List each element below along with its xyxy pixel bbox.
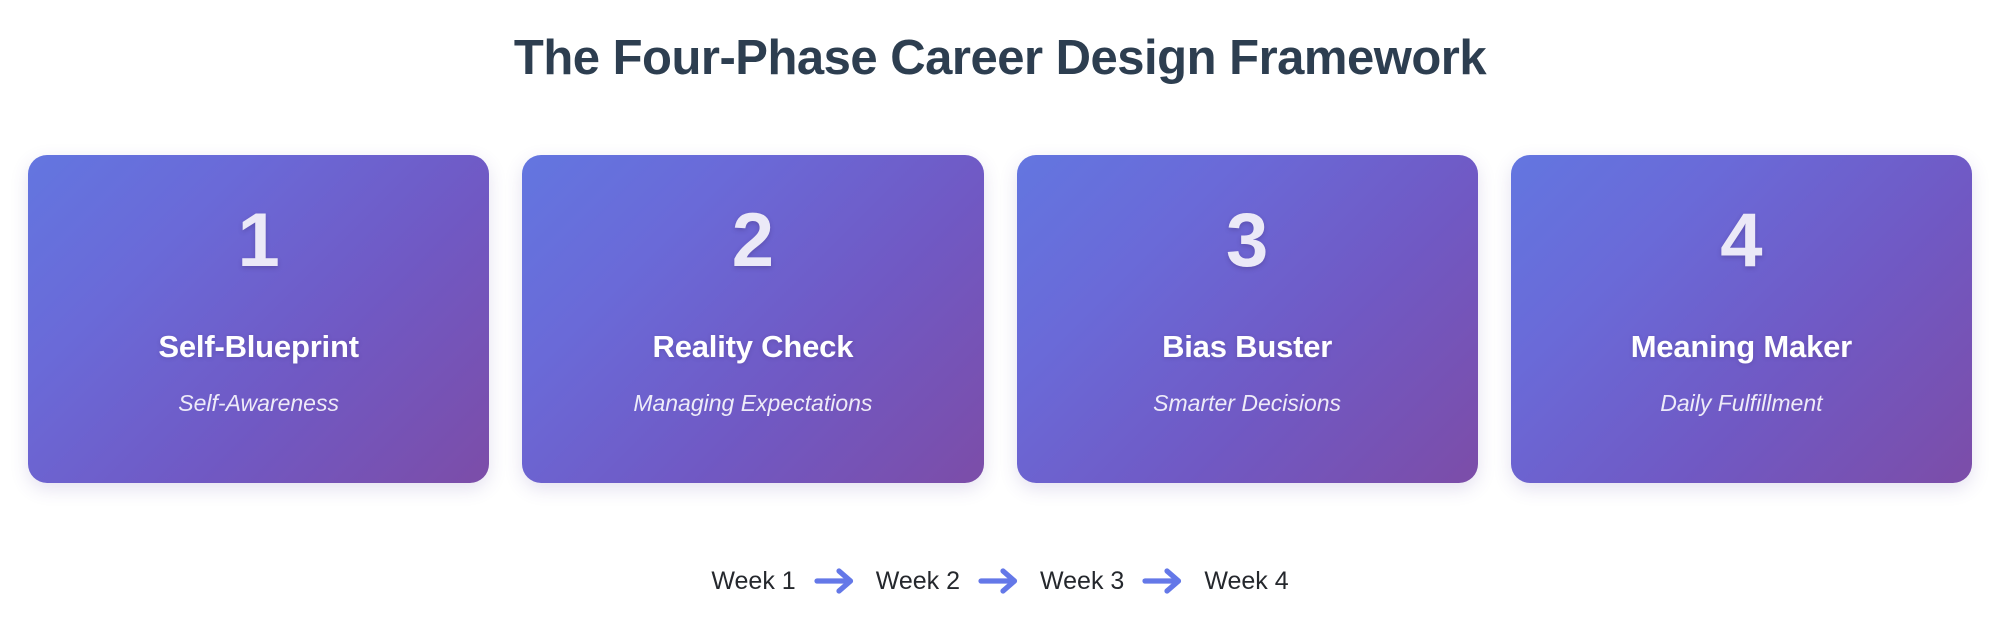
phase-subtitle: Managing Expectations	[633, 388, 872, 418]
phase-card-3[interactable]: 3 Bias Buster Smarter Decisions	[1017, 155, 1478, 483]
timeline-step-week-2: Week 2	[875, 565, 961, 597]
phase-number: 3	[1226, 201, 1268, 281]
phase-title: Bias Buster	[1162, 328, 1332, 366]
phase-title: Meaning Maker	[1631, 328, 1852, 366]
phase-subtitle: Smarter Decisions	[1153, 388, 1341, 418]
phase-subtitle: Self-Awareness	[178, 388, 339, 418]
phase-subtitle: Daily Fulfillment	[1660, 388, 1822, 418]
phase-number: 4	[1720, 201, 1762, 281]
phase-card-4[interactable]: 4 Meaning Maker Daily Fulfillment	[1511, 155, 1972, 483]
arrow-right-icon	[1125, 564, 1203, 598]
phase-card-1[interactable]: 1 Self-Blueprint Self-Awareness	[28, 155, 489, 483]
timeline-step-week-4: Week 4	[1203, 565, 1289, 597]
phase-title: Self-Blueprint	[158, 328, 358, 366]
timeline-step-week-3: Week 3	[1039, 565, 1125, 597]
phase-cards-row: 1 Self-Blueprint Self-Awareness 2 Realit…	[28, 155, 1972, 483]
arrow-right-icon	[797, 564, 875, 598]
phase-number: 2	[732, 201, 774, 281]
page-title: The Four-Phase Career Design Framework	[0, 28, 2000, 88]
phase-card-2[interactable]: 2 Reality Check Managing Expectations	[522, 155, 983, 483]
week-timeline: Week 1 Week 2 Week 3 Week 4	[0, 558, 2000, 604]
framework-infographic: The Four-Phase Career Design Framework 1…	[0, 0, 2000, 641]
phase-title: Reality Check	[653, 328, 854, 366]
arrow-right-icon	[961, 564, 1039, 598]
timeline-step-week-1: Week 1	[710, 565, 796, 597]
phase-number: 1	[237, 201, 279, 281]
